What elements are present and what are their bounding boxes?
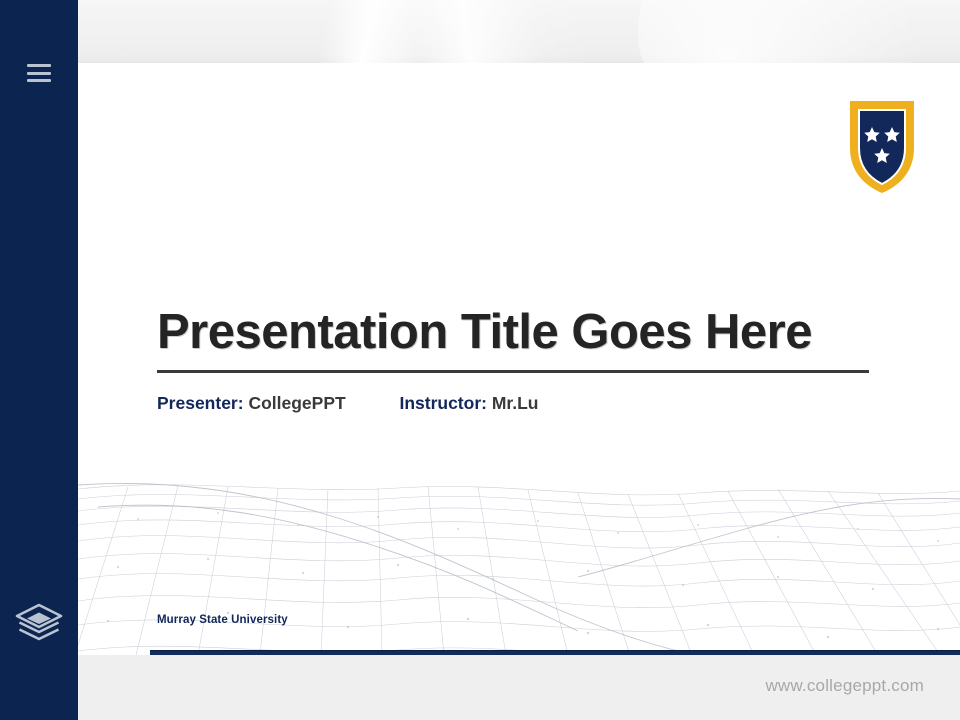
- page-footer: www.collegeppt.com: [78, 655, 960, 720]
- page-title: Presentation Title Goes Here: [157, 306, 869, 359]
- presenter-value: CollegePPT: [248, 393, 345, 413]
- instructor-label: Instructor:: [399, 393, 487, 413]
- hamburger-menu-icon: [27, 64, 51, 82]
- top-swoosh-decoration: [78, 0, 960, 64]
- organization-name: Murray State University: [157, 614, 288, 626]
- footer-website-url: www.collegeppt.com: [765, 676, 924, 696]
- instructor-value: Mr.Lu: [492, 393, 539, 413]
- hamburger-bar-3: [27, 79, 51, 82]
- title-block: Presentation Title Goes Here Presenter: …: [157, 306, 869, 414]
- hamburger-menu-button[interactable]: [0, 58, 78, 88]
- layers-button[interactable]: [0, 596, 78, 652]
- byline: Presenter: CollegePPT Instructor: Mr.Lu: [157, 393, 869, 414]
- hamburger-bar-1: [27, 64, 51, 67]
- presenter-label: Presenter:: [157, 393, 244, 413]
- presentation-slide: Presentation Title Goes Here Presenter: …: [78, 63, 960, 655]
- university-shield-crest: [847, 98, 917, 196]
- title-underline-rule: [157, 370, 869, 373]
- left-sidebar-rail: [0, 0, 78, 720]
- layers-stack-icon: [13, 601, 65, 647]
- hamburger-bar-2: [27, 72, 51, 75]
